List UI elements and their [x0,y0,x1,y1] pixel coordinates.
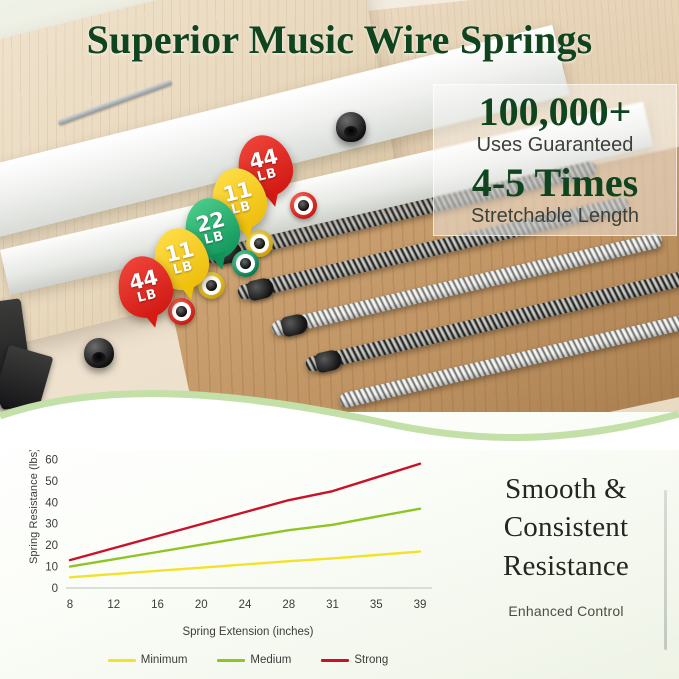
lower-section: 01020304050607081216202428313539 Spring … [0,412,679,679]
chart-y-tick-label: 20 [45,540,58,552]
spring-anchor-eyelet [168,298,195,325]
chart-x-tick-label: 8 [67,599,73,611]
legend-label-medium: Medium [250,654,291,666]
page-title: Superior Music Wire Springs [0,16,679,63]
tagline-line-3: Resistance [466,547,666,585]
tagline-line-2: Consistent [466,508,666,546]
chart-y-tick-label: 70 [45,433,58,445]
chart-series-line-medium [70,509,420,567]
spring-anchor-eyelet [232,250,259,277]
chart-y-tick-label: 10 [45,562,58,574]
vertical-divider-rule [664,490,667,650]
chart-legend: Minimum Medium Strong [68,654,428,666]
stat-stretch-label: Stretchable Length [434,204,676,229]
chart-y-tick-label: 0 [52,583,58,595]
weight-tag-unit: LB [203,230,225,246]
tagline-line-1: Smooth & [466,470,666,508]
chart-x-tick-label: 24 [239,599,252,611]
chart-y-tick-label: 60 [45,454,58,466]
weight-tag-unit: LB [136,288,158,304]
weight-tag-unit: LB [172,260,194,276]
chart-y-axis-title: Spring Resistance (lbs) [28,436,40,576]
chart-x-tick-label: 16 [151,599,164,611]
legend-label-minimum: Minimum [141,654,188,666]
resistance-chart: 01020304050607081216202428313539 Spring … [8,426,438,676]
chart-x-axis-title: Spring Extension (inches) [68,626,428,638]
legend-item-minimum: Minimum [108,654,188,666]
chart-x-tick-label: 28 [282,599,295,611]
legend-swatch-strong [321,659,349,662]
chart-y-tick-label: 50 [45,476,58,488]
product-infographic: 44 LB 11 LB 22 LB 11 LB 44 LB Superior M… [0,0,679,679]
chart-x-tick-label: 39 [414,599,427,611]
legend-label-strong: Strong [354,654,388,666]
legend-item-strong: Strong [321,654,388,666]
chart-canvas: 01020304050607081216202428313539 [8,426,438,676]
chart-y-tick-label: 30 [45,519,58,531]
chart-x-tick-label: 12 [107,599,120,611]
stat-uses-label: Uses Guaranteed [434,133,676,158]
chart-x-tick-label: 35 [370,599,383,611]
rubber-stopper-knob [84,338,114,368]
chart-series-line-strong [70,464,420,560]
rubber-stopper-knob [336,112,366,142]
tagline-subtitle: Enhanced Control [466,603,666,619]
stat-uses-value: 100,000+ [434,91,676,133]
legend-swatch-medium [217,659,245,662]
tagline-block: Smooth & Consistent Resistance Enhanced … [466,470,666,619]
legend-swatch-minimum [108,659,136,662]
chart-x-tick-label: 31 [326,599,339,611]
chart-series-line-minimum [70,552,420,578]
legend-item-medium: Medium [217,654,291,666]
chart-x-tick-label: 20 [195,599,208,611]
stat-stretch-value: 4-5 Times [434,162,676,204]
stats-callout: 100,000+ Uses Guaranteed 4-5 Times Stret… [433,84,677,236]
chart-y-tick-label: 40 [45,497,58,509]
spring-anchor-eyelet [290,192,317,219]
